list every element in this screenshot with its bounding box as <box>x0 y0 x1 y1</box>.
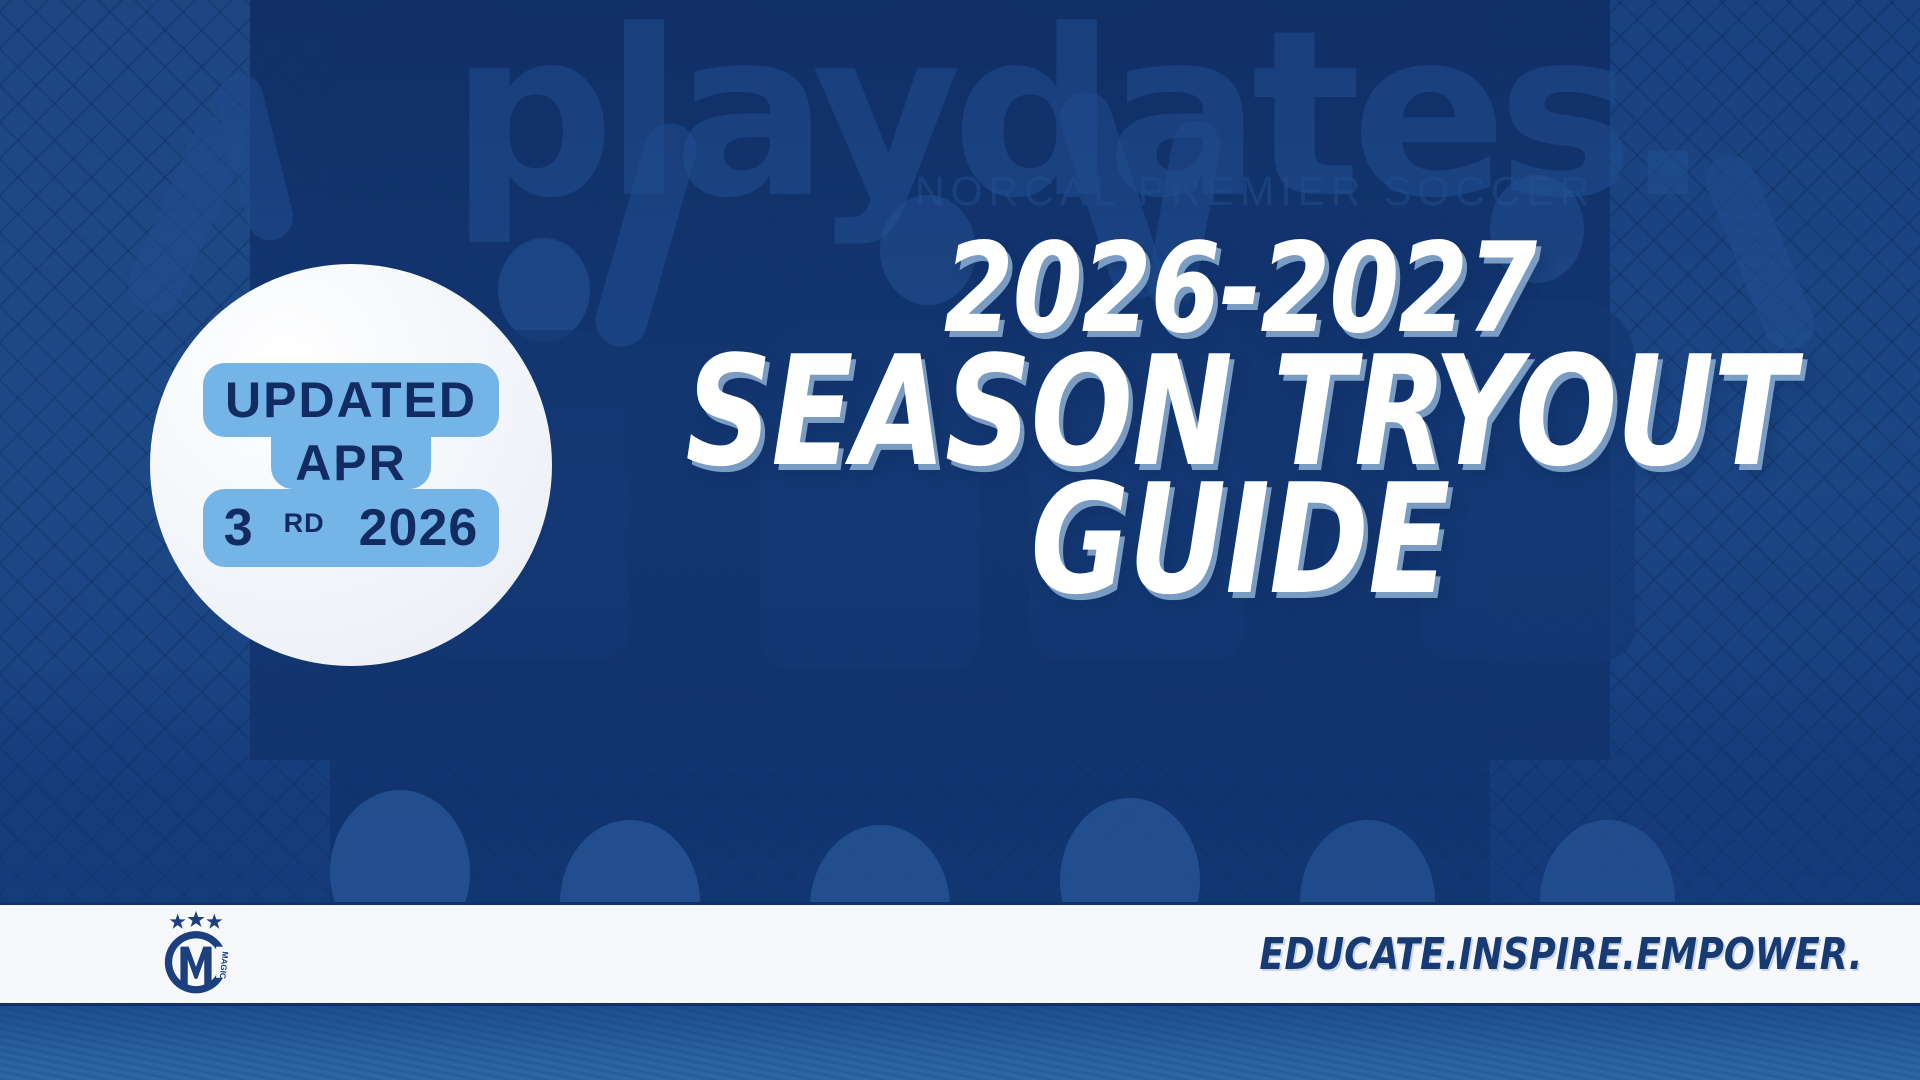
logo-m-letter <box>180 947 211 986</box>
badge-month-label: APR <box>271 437 431 489</box>
badge-content: UPDATED APR 3RD 2026 <box>150 363 552 567</box>
magic-soccer-club-logo-icon: MAGIC <box>150 910 242 998</box>
badge-day-suffix: RD <box>284 510 325 537</box>
footer-bar: MAGIC EDUCATE.INSPIRE.EMPOWER. <box>0 902 1920 1006</box>
badge-date-row: 3RD 2026 <box>203 489 499 567</box>
badge-updated-label: UPDATED <box>203 363 499 437</box>
title-line-guide: GUIDE <box>642 469 1839 610</box>
bottom-photo-strip <box>0 1006 1920 1080</box>
footer-tagline: EDUCATE.INSPIRE.EMPOWER. <box>1259 929 1862 980</box>
page-title: 2026-2027 SEASON TRYOUT GUIDE <box>560 232 1920 610</box>
badge-day: 3 <box>224 502 254 554</box>
badge-day-group: 3RD <box>224 502 325 554</box>
logo-stars-icon <box>170 911 223 929</box>
tryout-guide-poster: playdates. NORCAL PREMIER SOCCER <box>0 0 1920 1080</box>
updated-date-badge: UPDATED APR 3RD 2026 <box>150 264 552 666</box>
badge-year: 2026 <box>359 502 479 554</box>
